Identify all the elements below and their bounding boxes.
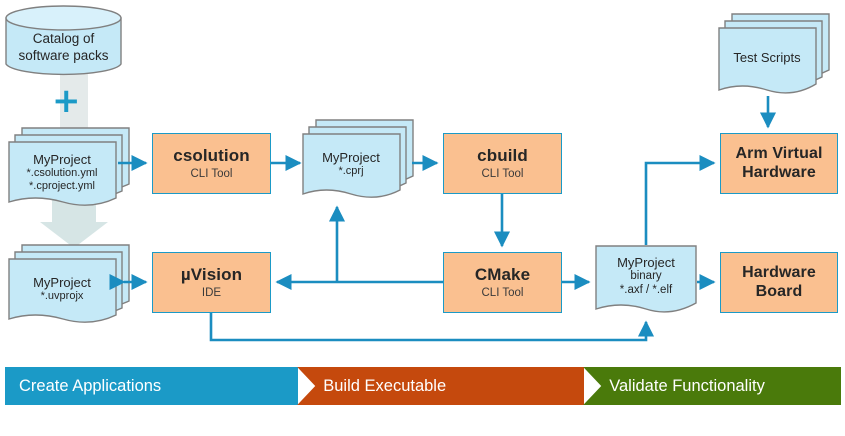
tool-cbuild-subtitle: CLI Tool (482, 168, 524, 181)
phase-build-executable[interactable]: Build Executable (297, 367, 584, 405)
board-line1: Hardware (742, 264, 816, 282)
plus-icon: + (52, 84, 81, 118)
tool-uvision-title: µVision (181, 265, 242, 285)
doc-myproject-yml: MyProject *.csolution.yml *.cproject.yml (8, 126, 132, 206)
tool-cmake-subtitle: CLI Tool (482, 287, 524, 300)
tool-cmake[interactable]: CMake CLI Tool (443, 252, 562, 313)
tool-csolution-title: csolution (173, 146, 249, 166)
target-arm-virtual-hardware[interactable]: Arm Virtual Hardware (720, 133, 838, 194)
wire-binary-to-avh (646, 163, 714, 245)
tool-csolution[interactable]: csolution CLI Tool (152, 133, 271, 194)
phase-banner: Create Applications Build Executable Val… (5, 367, 841, 405)
tool-uvision[interactable]: µVision IDE (152, 252, 271, 313)
catalog-line2: software packs (18, 48, 108, 63)
phase-create-label: Create Applications (19, 377, 161, 396)
avh-line1: Arm Virtual (735, 145, 822, 163)
catalog-line1: Catalog of (33, 31, 95, 46)
tool-csolution-subtitle: CLI Tool (191, 168, 233, 181)
avh-line2: Hardware (742, 164, 816, 182)
doc-myproject-binary: MyProject binary *.axf / *.elf (595, 245, 697, 319)
wire-uvision-to-binary (211, 313, 646, 340)
doc-test-scripts: Test Scripts (718, 12, 830, 96)
tool-uvision-subtitle: IDE (202, 287, 221, 300)
phase-validate-label: Validate Functionality (609, 377, 765, 396)
phase-build-label: Build Executable (323, 377, 446, 396)
board-line2: Board (756, 283, 803, 301)
phase-validate-functionality[interactable]: Validate Functionality (583, 367, 841, 405)
diagram-canvas: Catalog of software packs + MyProject *.… (0, 0, 845, 436)
tool-cbuild[interactable]: cbuild CLI Tool (443, 133, 562, 194)
tool-cbuild-title: cbuild (477, 146, 528, 166)
catalog-of-software-packs: Catalog of software packs (5, 5, 122, 77)
phase-create-applications[interactable]: Create Applications (5, 367, 298, 405)
tool-cmake-title: CMake (475, 265, 530, 285)
doc-myproject-uvprojx: MyProject *.uvprojx (8, 243, 132, 323)
doc-myproject-cprj: MyProject *.cprj (302, 118, 414, 200)
target-hardware-board[interactable]: Hardware Board (720, 252, 838, 313)
